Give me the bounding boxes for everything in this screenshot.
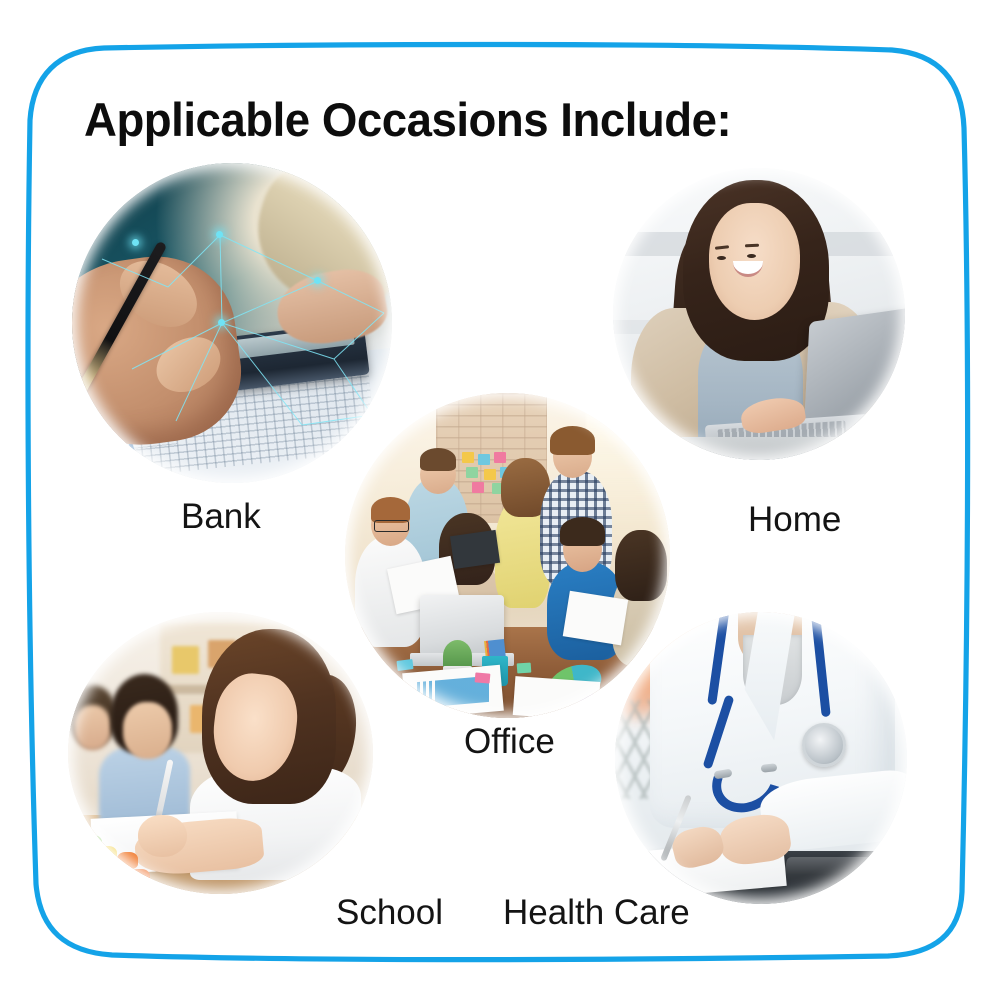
school-shelf-item-1 xyxy=(172,646,199,674)
school-child-far-face xyxy=(74,705,111,750)
occasion-photo-school xyxy=(68,612,373,894)
occasion-label-school: School xyxy=(336,893,443,933)
home-eye-right xyxy=(747,254,756,258)
school-boy-face xyxy=(123,702,172,758)
office-desk-paper-2 xyxy=(513,676,600,718)
office-desk-sticky-2 xyxy=(475,672,491,683)
bank-network-node xyxy=(314,277,321,284)
office-desk-sticky-1 xyxy=(396,659,413,671)
product-infographic: Applicable Occasions Include: xyxy=(0,0,1000,1000)
health-desk-reflection xyxy=(781,857,893,886)
office-tablet xyxy=(450,530,500,569)
office-desk-sticky-3 xyxy=(517,662,532,673)
occasion-label-office: Office xyxy=(464,722,555,762)
occasion-label-bank: Bank xyxy=(181,497,261,537)
page-title: Applicable Occasions Include: xyxy=(84,92,731,147)
bank-network-node xyxy=(216,231,223,238)
home-eye-left xyxy=(717,256,726,260)
occasion-label-health-care: Health Care xyxy=(503,893,690,933)
occasion-photo-health-care xyxy=(615,612,907,904)
office-hair-right xyxy=(615,530,667,602)
office-hair-blue xyxy=(560,517,606,546)
bank-network-node xyxy=(132,239,139,246)
occasion-label-home: Home xyxy=(748,500,841,540)
bank-network-node xyxy=(218,319,225,326)
school-letter-shape-orange-2 xyxy=(129,869,150,886)
school-letter-shape-orange-1 xyxy=(117,852,138,869)
office-hair-plaid xyxy=(550,426,596,455)
office-glasses xyxy=(374,520,409,532)
bank-network-overlay xyxy=(72,163,392,483)
school-girl-hand xyxy=(138,815,187,857)
health-stethoscope-chestpiece xyxy=(802,723,846,767)
occasion-photo-bank xyxy=(72,163,392,483)
school-letter-shape-yellow xyxy=(95,846,116,863)
office-hair-standing-left xyxy=(420,448,456,471)
